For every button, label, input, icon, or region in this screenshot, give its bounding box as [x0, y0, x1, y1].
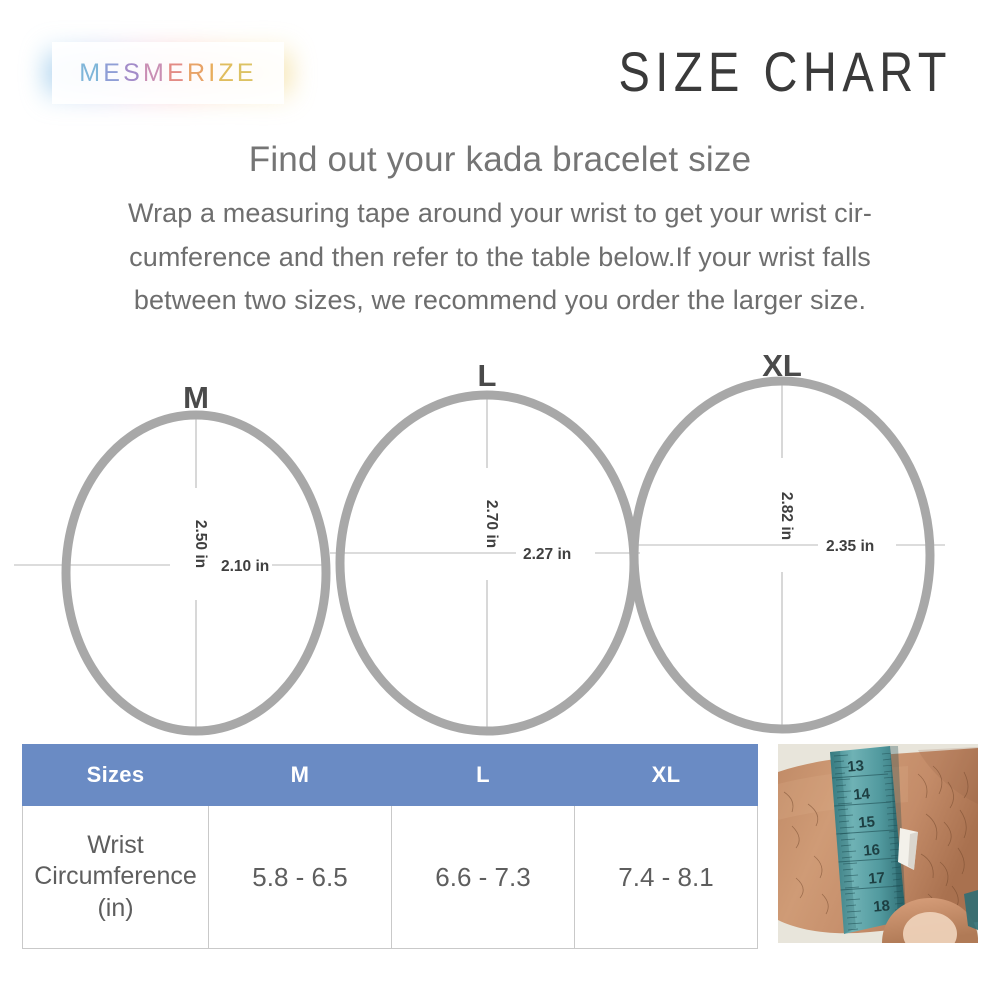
row-label-wrist-circumference: Wrist Circumference (in) — [23, 806, 209, 949]
cell-wrist-m: 5.8 - 6.5 — [209, 806, 392, 949]
row-label-line-1: Wrist — [27, 830, 204, 861]
table-header-sizes: Sizes — [23, 745, 209, 806]
logo-wordmark: MESMERIZE — [79, 59, 256, 88]
tape-mark-17: 17 — [868, 869, 886, 887]
table-row: Wrist Circumference (in) 5.8 - 6.5 6.6 -… — [23, 806, 758, 949]
table-header-m: M — [209, 745, 392, 806]
intro-line-2: cumference and then refer to the table b… — [0, 236, 1000, 280]
logo-box: MESMERIZE — [52, 42, 284, 104]
tape-mark-18: 18 — [873, 897, 891, 915]
cell-wrist-l: 6.6 - 7.3 — [392, 806, 575, 949]
tape-mark-15: 15 — [858, 813, 876, 831]
logo-letter-2: S — [123, 59, 143, 87]
tape-mark-14: 14 — [853, 785, 872, 803]
logo-letter-8: E — [237, 59, 257, 87]
intro-line-1: Wrap a measuring tape around your wrist … — [0, 192, 1000, 236]
row-label-line-3: (in) — [27, 893, 204, 924]
intro-heading: Find out your kada bracelet size — [0, 140, 1000, 180]
oval-xl-size-letter: XL — [762, 348, 802, 383]
table-header-xl: XL — [575, 745, 758, 806]
page-header: MESMERIZE SIZE CHART — [0, 0, 1000, 130]
oval-m-width-label: 2.10 in — [221, 558, 269, 575]
oval-diagram-xl: XL 2.82 in 2.35 in — [630, 348, 945, 730]
oval-xl-height-label: 2.82 in — [778, 492, 795, 540]
cell-wrist-xl: 7.4 - 8.1 — [575, 806, 758, 949]
oval-diagram-group: M 2.50 in 2.10 in L 2.70 in 2.27 in XL 2… — [0, 340, 1000, 740]
logo-letter-5: R — [187, 59, 208, 87]
logo-letter-3: M — [143, 59, 167, 87]
oval-l-size-letter: L — [478, 358, 497, 393]
wrist-measurement-photo: 13 14 15 16 17 18 — [778, 744, 978, 943]
oval-l-width-label: 2.27 in — [523, 546, 571, 563]
oval-m-height-label: 2.50 in — [192, 520, 209, 568]
page-title: SIZE CHART — [618, 44, 952, 99]
table-header-row: Sizes M L XL — [23, 745, 758, 806]
oval-diagram-l: L 2.70 in 2.27 in — [330, 358, 640, 731]
oval-l-height-label: 2.70 in — [483, 500, 500, 548]
logo-letter-6: I — [208, 59, 218, 87]
oval-diagram-m: M 2.50 in 2.10 in — [14, 380, 330, 731]
logo-letter-0: M — [79, 59, 103, 87]
tape-mark-13: 13 — [847, 757, 865, 775]
oval-xl-width-label: 2.35 in — [826, 538, 874, 555]
intro-block: Find out your kada bracelet size Wrap a … — [0, 140, 1000, 323]
logo-letter-7: Z — [218, 59, 236, 87]
intro-line-3: between two sizes, we recommend you orde… — [0, 279, 1000, 323]
brand-logo: MESMERIZE — [52, 42, 284, 104]
tape-mark-16: 16 — [863, 841, 881, 859]
logo-letter-1: E — [103, 59, 123, 87]
logo-letter-4: E — [167, 59, 187, 87]
size-table: Sizes M L XL Wrist Circumference (in) 5.… — [22, 744, 758, 949]
row-label-line-2: Circumference — [27, 861, 204, 892]
table-header-l: L — [392, 745, 575, 806]
oval-m-size-letter: M — [183, 380, 209, 415]
